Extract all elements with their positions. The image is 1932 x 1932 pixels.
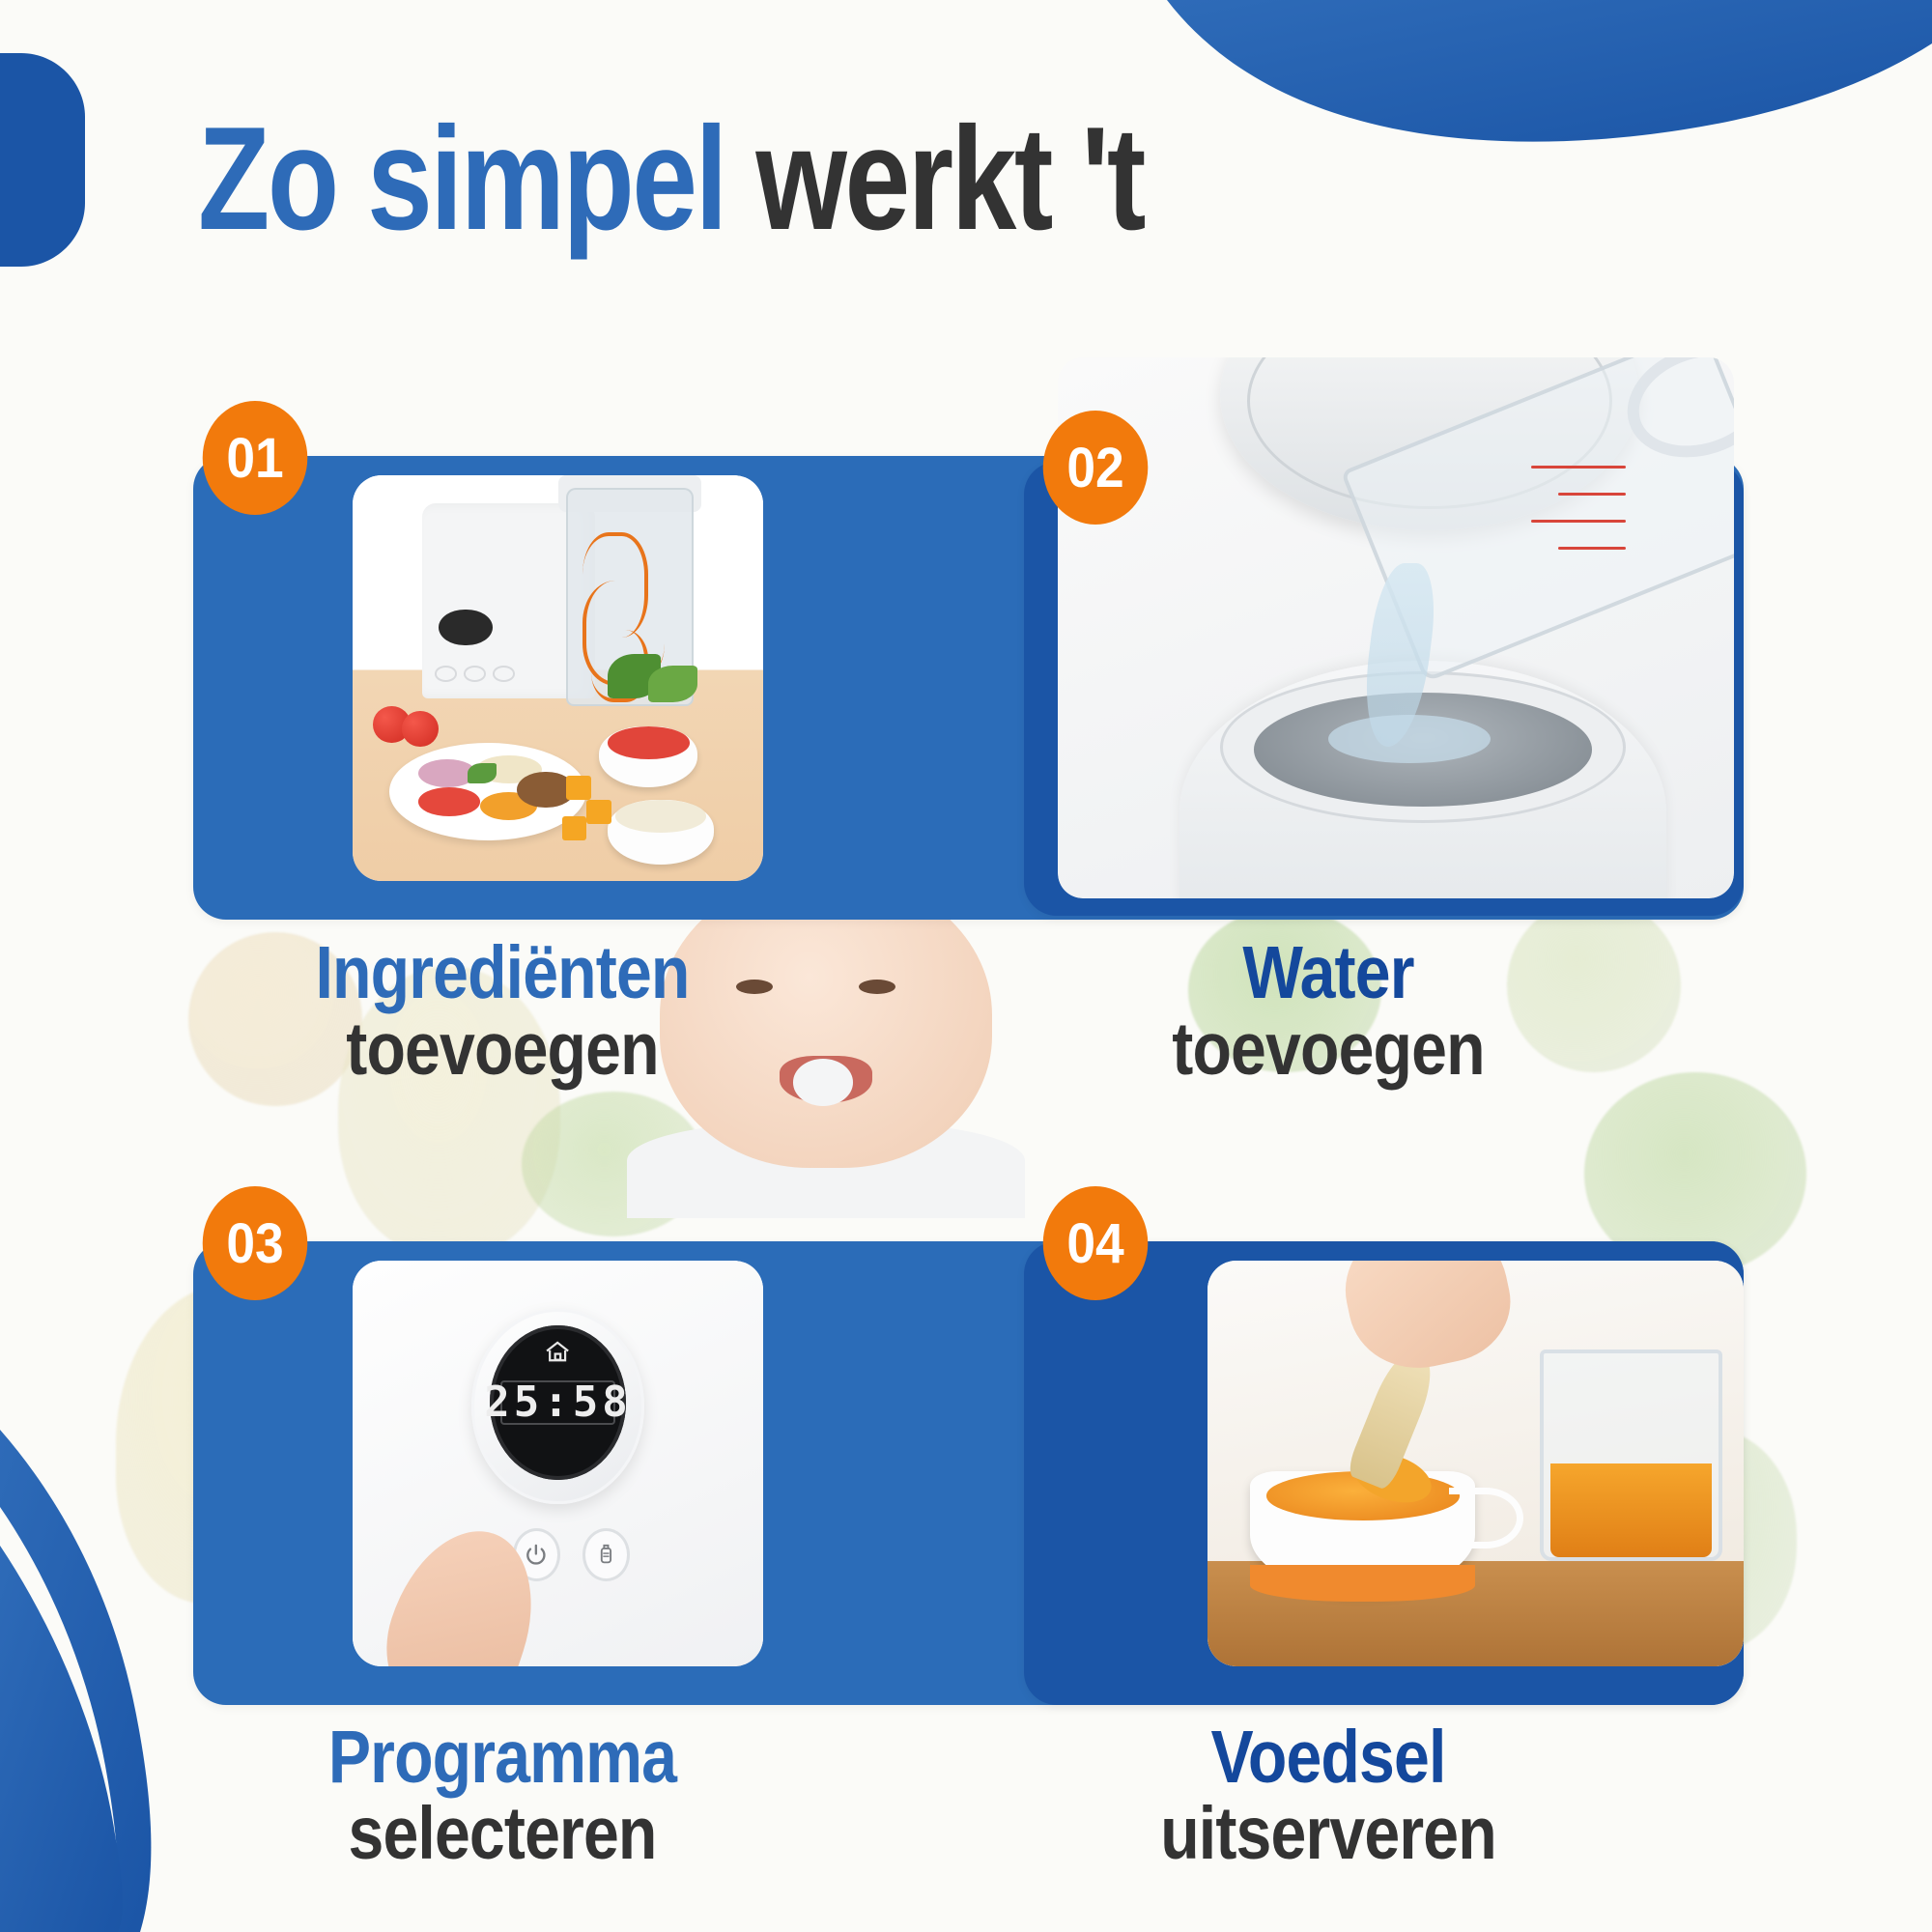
step-01-caption-line2: toevoegen bbox=[195, 1011, 810, 1088]
step-02-caption-line2: toevoegen bbox=[1021, 1011, 1635, 1088]
step-01-caption: Ingrediënten toevoegen bbox=[145, 935, 860, 1087]
step-04-photo bbox=[1207, 1261, 1744, 1666]
step-02-photo bbox=[1058, 357, 1734, 898]
step-04-number: 04 bbox=[1066, 1211, 1123, 1276]
step-03-number: 03 bbox=[226, 1211, 283, 1276]
step-04-number-badge: 04 bbox=[1043, 1186, 1149, 1300]
title-rest: werkt 't bbox=[755, 97, 1144, 261]
title-highlight: Zo simpel bbox=[198, 97, 725, 261]
steps-grid: 01 Ingrediënten toevoegen bbox=[0, 0, 1932, 1932]
page-title: Zo simpel werkt 't bbox=[198, 106, 1744, 251]
step-02-caption: Water toevoegen bbox=[971, 935, 1686, 1087]
timer-display: 25:58 bbox=[500, 1380, 615, 1425]
step-01-number: 01 bbox=[226, 426, 283, 491]
timer-value: 25:58 bbox=[484, 1378, 631, 1427]
step-02-number-badge: 02 bbox=[1043, 411, 1149, 525]
step-04-caption-line1: Voedsel bbox=[1021, 1719, 1635, 1796]
bottle-icon bbox=[594, 1541, 618, 1568]
step-03-caption: Programma selecteren bbox=[145, 1719, 860, 1871]
step-03-photo: 25:58 bbox=[353, 1261, 763, 1666]
step-04-caption: Voedsel uitserveren bbox=[971, 1719, 1686, 1871]
step-04-caption-line2: uitserveren bbox=[1021, 1796, 1635, 1872]
step-02-number: 02 bbox=[1066, 436, 1123, 500]
bottle-button[interactable] bbox=[582, 1528, 630, 1581]
step-01-photo bbox=[353, 475, 763, 881]
step-02-caption-line1: Water bbox=[1021, 935, 1635, 1011]
home-icon bbox=[539, 1338, 576, 1366]
step-03-caption-line1: Programma bbox=[195, 1719, 810, 1796]
power-icon bbox=[524, 1541, 549, 1569]
step-01-caption-line1: Ingrediënten bbox=[195, 935, 810, 1011]
step-03-number-badge: 03 bbox=[203, 1186, 308, 1300]
step-03-caption-line2: selecteren bbox=[195, 1796, 810, 1872]
step-01-number-badge: 01 bbox=[203, 401, 308, 515]
